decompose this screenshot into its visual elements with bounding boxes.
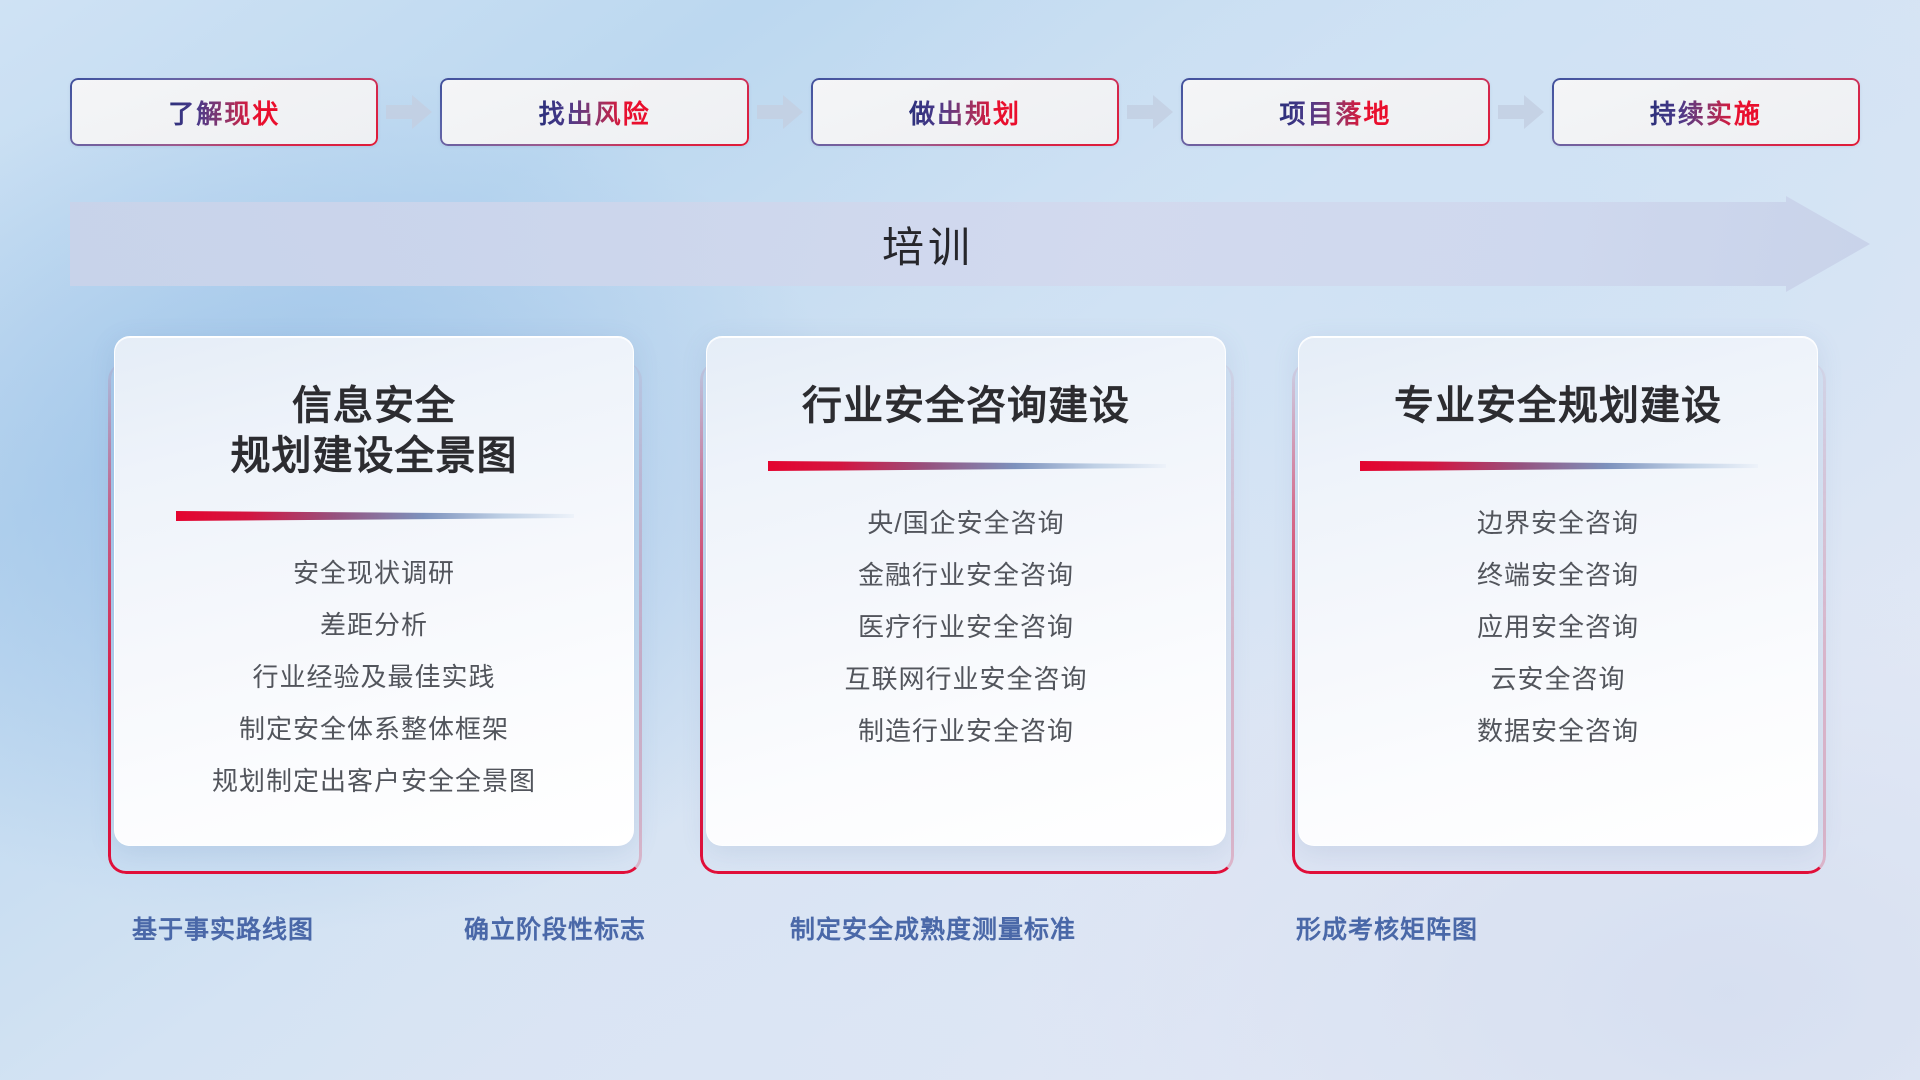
process-steps-row: 了解现状 找出风险 做出规划 项目落地 持续实施	[70, 78, 1860, 146]
footer-label-3: 制定安全成熟度测量标准	[790, 910, 1076, 946]
list-item: 边界安全咨询	[1325, 497, 1791, 549]
card-body: 专业安全规划建设	[1298, 336, 1818, 846]
step-box-5[interactable]: 持续实施	[1552, 78, 1860, 146]
card-divider-icon	[174, 507, 575, 525]
banner-title: 培训	[70, 196, 1870, 292]
card-item-list: 央/国企安全咨询 金融行业安全咨询 医疗行业安全咨询 互联网行业安全咨询 制造行…	[733, 497, 1199, 757]
card-body: 信息安全 规划建设全景图	[114, 336, 634, 846]
arrow-right-icon	[1119, 91, 1181, 133]
step-label: 项目落地	[1279, 94, 1391, 131]
arrow-right-icon	[749, 91, 811, 133]
list-item: 终端安全咨询	[1325, 549, 1791, 601]
card-item-list: 边界安全咨询 终端安全咨询 应用安全咨询 云安全咨询 数据安全咨询	[1325, 497, 1791, 757]
list-item: 应用安全咨询	[1325, 601, 1791, 653]
arrow-right-icon	[378, 91, 440, 133]
footer-label-4: 形成考核矩阵图	[1296, 910, 1478, 946]
step-label: 找出风险	[539, 94, 651, 131]
list-item: 规划制定出客户安全全景图	[141, 755, 607, 807]
list-item: 数据安全咨询	[1325, 705, 1791, 757]
list-item: 互联网行业安全咨询	[733, 653, 1199, 705]
list-item: 制定安全体系整体框架	[141, 703, 607, 755]
card-title: 专业安全规划建设	[1394, 381, 1722, 431]
card-body: 行业安全咨询建设	[706, 336, 1226, 846]
footer-label-2: 确立阶段性标志	[464, 910, 646, 946]
arrow-right-icon	[1490, 91, 1552, 133]
footer-labels: 基于事实路线图 确立阶段性标志 制定安全成熟度测量标准 形成考核矩阵图	[0, 910, 1920, 956]
card-title: 行业安全咨询建设	[802, 381, 1130, 431]
list-item: 云安全咨询	[1325, 653, 1791, 705]
step-box-3[interactable]: 做出规划	[811, 78, 1119, 146]
list-item: 制造行业安全咨询	[733, 705, 1199, 757]
service-card-1[interactable]: 信息安全 规划建设全景图	[108, 336, 644, 868]
card-divider-icon	[1358, 457, 1759, 475]
step-label: 了解现状	[168, 94, 280, 131]
list-item: 金融行业安全咨询	[733, 549, 1199, 601]
service-card-3[interactable]: 专业安全规划建设	[1292, 336, 1828, 868]
step-label: 做出规划	[909, 94, 1021, 131]
footer-label-1: 基于事实路线图	[132, 910, 314, 946]
card-item-list: 安全现状调研 差距分析 行业经验及最佳实践 制定安全体系整体框架 规划制定出客户…	[141, 547, 607, 807]
list-item: 安全现状调研	[141, 547, 607, 599]
list-item: 差距分析	[141, 599, 607, 651]
list-item: 医疗行业安全咨询	[733, 601, 1199, 653]
step-box-1[interactable]: 了解现状	[70, 78, 378, 146]
service-cards: 信息安全 规划建设全景图	[108, 336, 1828, 868]
step-label: 持续实施	[1650, 94, 1762, 131]
card-title: 信息安全 规划建设全景图	[231, 381, 518, 481]
step-box-2[interactable]: 找出风险	[440, 78, 748, 146]
training-banner: 培训	[70, 196, 1870, 292]
list-item: 行业经验及最佳实践	[141, 651, 607, 703]
service-card-2[interactable]: 行业安全咨询建设	[700, 336, 1236, 868]
card-divider-icon	[766, 457, 1167, 475]
step-box-4[interactable]: 项目落地	[1181, 78, 1489, 146]
list-item: 央/国企安全咨询	[733, 497, 1199, 549]
